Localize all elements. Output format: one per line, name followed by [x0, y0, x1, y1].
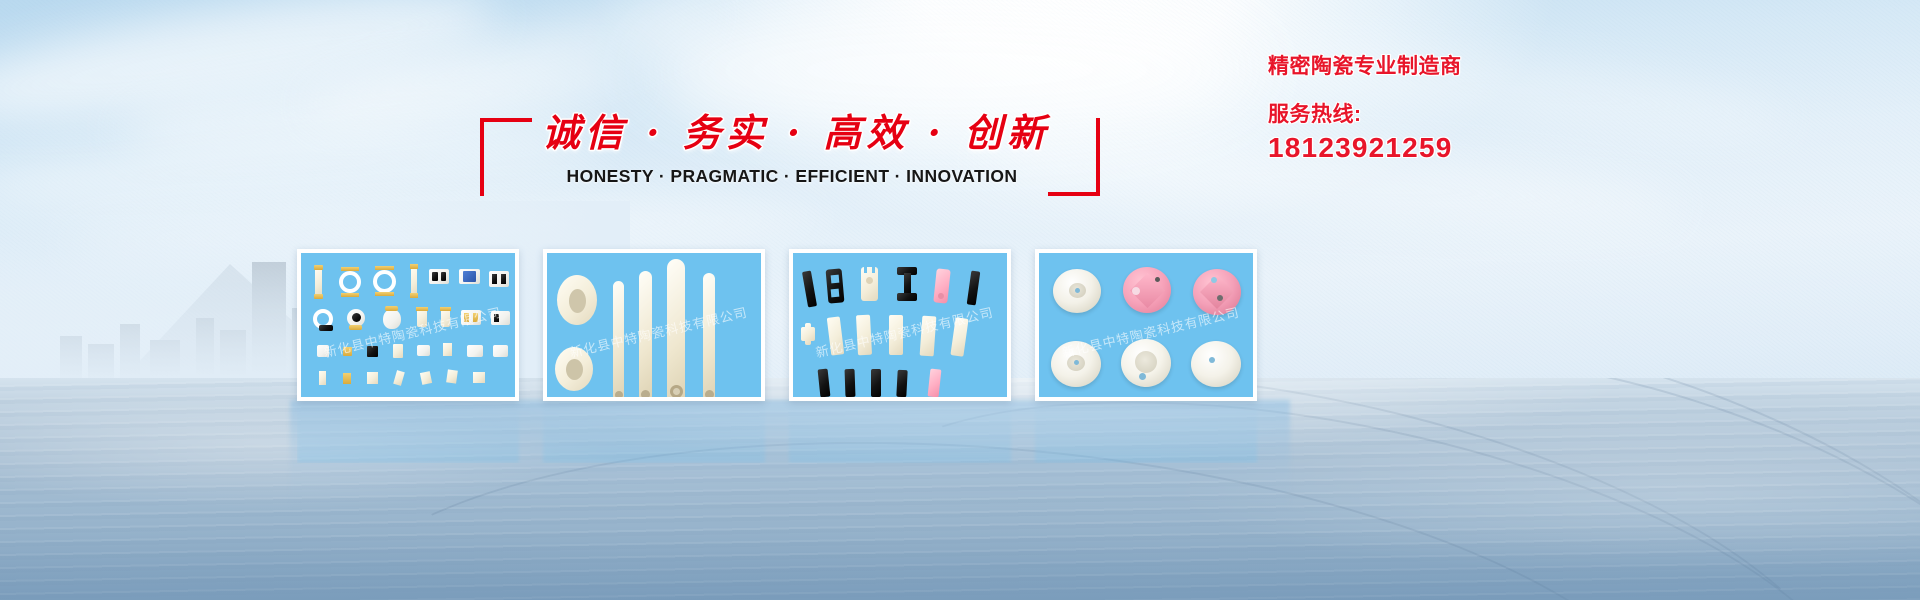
ceramic-part	[416, 307, 428, 311]
chip-detail	[464, 313, 469, 322]
black-bar	[845, 369, 856, 397]
disc-pin-hole	[1155, 277, 1160, 282]
chip-detail	[501, 274, 506, 284]
ceramic-ring	[373, 270, 396, 293]
ceramic-disc	[383, 309, 401, 329]
chip-detail	[463, 271, 476, 282]
pink-bar	[928, 369, 942, 397]
disc-center	[352, 313, 361, 322]
disc-bore	[1211, 277, 1217, 283]
ceramic-part	[417, 309, 427, 327]
disc-pin-hole	[1217, 295, 1223, 301]
black-bar	[818, 369, 831, 397]
panel-ceramic-tubes-rods[interactable]: 新化县中特陶瓷科技有限公司	[543, 249, 765, 401]
panel-ceramic-discs[interactable]: 新化县中特陶瓷科技有限公司	[1035, 249, 1257, 401]
ceramic-tube	[639, 271, 652, 397]
ceramic-part	[319, 325, 333, 331]
clip-hole	[866, 277, 873, 284]
tube-bore	[615, 391, 623, 397]
ceramic-part	[417, 345, 430, 356]
ceramic-part	[367, 346, 378, 357]
chip-detail	[494, 314, 499, 322]
black-ceramic-part	[802, 270, 817, 307]
ceramic-part	[420, 371, 432, 385]
hotline-number[interactable]: 18123921259	[1268, 132, 1688, 164]
ivory-block	[856, 315, 872, 356]
ivory-block	[950, 317, 968, 356]
clip-prong-gap	[864, 265, 867, 273]
black-ceramic-clip	[826, 268, 845, 303]
bottom-haze	[0, 530, 1920, 600]
product-photo: 新化县中特陶瓷科技有限公司	[301, 253, 515, 397]
product-photo: 新化县中特陶瓷科技有限公司	[793, 253, 1007, 397]
ceramic-tube	[613, 281, 624, 397]
disc-bore	[1074, 360, 1079, 365]
ceramic-tube	[667, 259, 685, 397]
clip-slot	[831, 289, 840, 298]
ceramic-part	[410, 293, 418, 298]
ceramic-part	[385, 306, 398, 311]
ivory-block	[827, 316, 845, 355]
ceramic-tube	[703, 273, 715, 397]
ceramic-part	[341, 267, 359, 271]
bracket-top-left	[480, 118, 532, 196]
chip-detail	[492, 274, 497, 284]
ceramic-part	[314, 294, 323, 299]
ceramic-part	[440, 307, 451, 311]
chip-detail	[441, 272, 446, 281]
ceramic-part	[375, 292, 394, 296]
ceramic-part	[317, 345, 329, 357]
ivory-block	[920, 316, 937, 357]
bushing-bore	[566, 359, 583, 380]
tube-bore	[641, 390, 650, 397]
ivory-block	[889, 315, 903, 355]
ceramic-part	[319, 371, 326, 385]
contact-block: 精密陶瓷专业制造商 服务热线: 18123921259	[1268, 50, 1688, 164]
ceramic-part	[393, 344, 403, 358]
ivory-cross-part	[805, 323, 811, 345]
ceramic-part	[411, 266, 417, 296]
chip-detail	[432, 272, 438, 281]
ceramic-ring	[339, 271, 361, 293]
ceramic-part	[343, 347, 352, 356]
ceramic-part	[349, 325, 362, 330]
slogan-chinese: 诚信 · 务实 · 高效 · 创新	[542, 108, 1042, 158]
ceramic-part	[367, 372, 378, 384]
product-panel-strip: 新化县中特陶瓷科技有限公司 新化县中特陶瓷	[297, 249, 1275, 401]
panel-small-ceramic-components[interactable]: 新化县中特陶瓷科技有限公司	[297, 249, 519, 401]
ceramic-part	[343, 373, 351, 384]
image-watermark: 新化县中特陶瓷科技有限公司	[301, 293, 515, 369]
bracket-bottom-right	[1048, 118, 1100, 196]
panel-black-white-pink-parts[interactable]: 新化县中特陶瓷科技有限公司	[789, 249, 1011, 401]
ceramic-part	[473, 372, 485, 383]
clip-prong-gap	[872, 265, 875, 273]
ceramic-part	[341, 293, 359, 297]
product-photo: 新化县中特陶瓷科技有限公司	[1039, 253, 1253, 397]
ceramic-part	[375, 266, 394, 270]
black-bar	[871, 369, 881, 397]
ceramic-part	[314, 265, 323, 270]
chip-detail	[473, 313, 478, 322]
bushing-bore	[569, 289, 586, 313]
white-ceramic-disc	[1191, 341, 1241, 387]
slogan-block: 诚信 · 务实 · 高效 · 创新 HONESTY · PRAGMATIC · …	[480, 108, 1100, 200]
ceramic-part	[315, 267, 322, 297]
ceramic-part	[410, 264, 418, 269]
product-photo: 新化县中特陶瓷科技有限公司	[547, 253, 761, 397]
disc-bore	[1209, 357, 1215, 363]
ceramic-part	[446, 369, 458, 383]
ceramic-part	[393, 370, 405, 386]
ceramic-chip	[467, 345, 483, 357]
disc-bore	[1075, 288, 1080, 293]
black-ceramic-dogbone	[904, 273, 911, 295]
tube-bore	[705, 390, 714, 397]
banner-stage: 诚信 · 务实 · 高效 · 创新 HONESTY · PRAGMATIC · …	[0, 0, 1920, 600]
disc-recess	[1135, 351, 1157, 373]
disc-bore	[1132, 287, 1140, 295]
clip-slot	[831, 275, 840, 284]
ceramic-chip	[493, 345, 508, 357]
slogan-english: HONESTY · PRAGMATIC · EFFICIENT · INNOVA…	[530, 166, 1054, 187]
disc-bore	[1139, 373, 1146, 380]
ceramic-part	[441, 309, 450, 327]
ceramic-part	[443, 343, 452, 356]
black-ceramic-part	[967, 271, 981, 306]
black-bar	[896, 370, 907, 397]
company-tagline: 精密陶瓷专业制造商	[1268, 50, 1688, 80]
panel-glow-reflection	[290, 400, 1290, 510]
black-ceramic-dogbone	[897, 293, 917, 301]
hotline-label: 服务热线:	[1268, 98, 1688, 128]
tube-bore-inner	[673, 388, 680, 395]
